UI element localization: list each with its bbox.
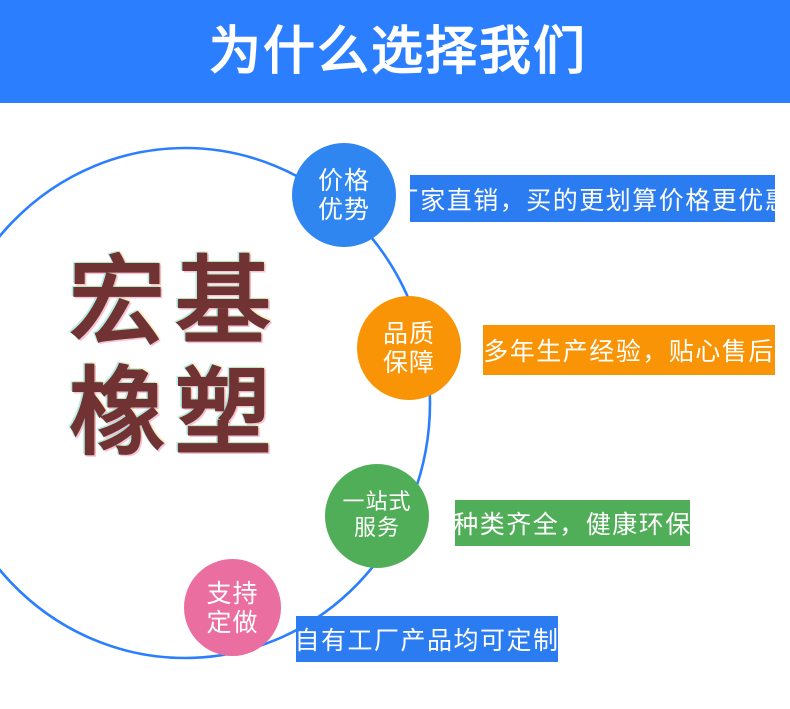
feature-circle-custom-line1: 支持 — [206, 579, 258, 608]
promo-banner-page: 为什么选择我们 宏基 橡塑 价格 优势 厂家直销，买的更划算价格更优惠 品质 保… — [0, 0, 790, 709]
brand-logo-line-2: 橡塑 — [59, 357, 281, 468]
feature-banner-price[interactable]: 厂家直销，买的更划算价格更优惠 — [410, 175, 775, 222]
feature-circle-price-line2: 优势 — [318, 195, 370, 224]
feature-circle-price-line1: 价格 — [318, 166, 370, 195]
feature-circle-service-line1: 一站式 — [342, 490, 411, 516]
feature-circle-custom[interactable]: 支持 定做 — [184, 559, 281, 656]
feature-circle-quality-line2: 保障 — [383, 348, 435, 377]
feature-circle-quality-line1: 品质 — [383, 319, 435, 348]
feature-banner-custom[interactable]: 自有工厂产品均可定制 — [296, 616, 558, 662]
feature-banner-quality[interactable]: 多年生产经验，贴心售后 — [483, 325, 775, 375]
feature-circle-quality[interactable]: 品质 保障 — [357, 296, 461, 400]
brand-logo-line-1: 宏基 — [59, 246, 281, 357]
feature-circle-custom-line2: 定做 — [206, 608, 258, 637]
feature-banner-service[interactable]: 种类齐全，健康环保 — [455, 500, 690, 546]
feature-circle-service[interactable]: 一站式 服务 — [325, 464, 429, 568]
feature-circle-service-line2: 服务 — [354, 516, 400, 542]
page-title: 为什么选择我们 — [0, 0, 790, 103]
feature-circle-price[interactable]: 价格 优势 — [292, 143, 396, 247]
brand-logo: 宏基 橡塑 — [30, 228, 310, 486]
